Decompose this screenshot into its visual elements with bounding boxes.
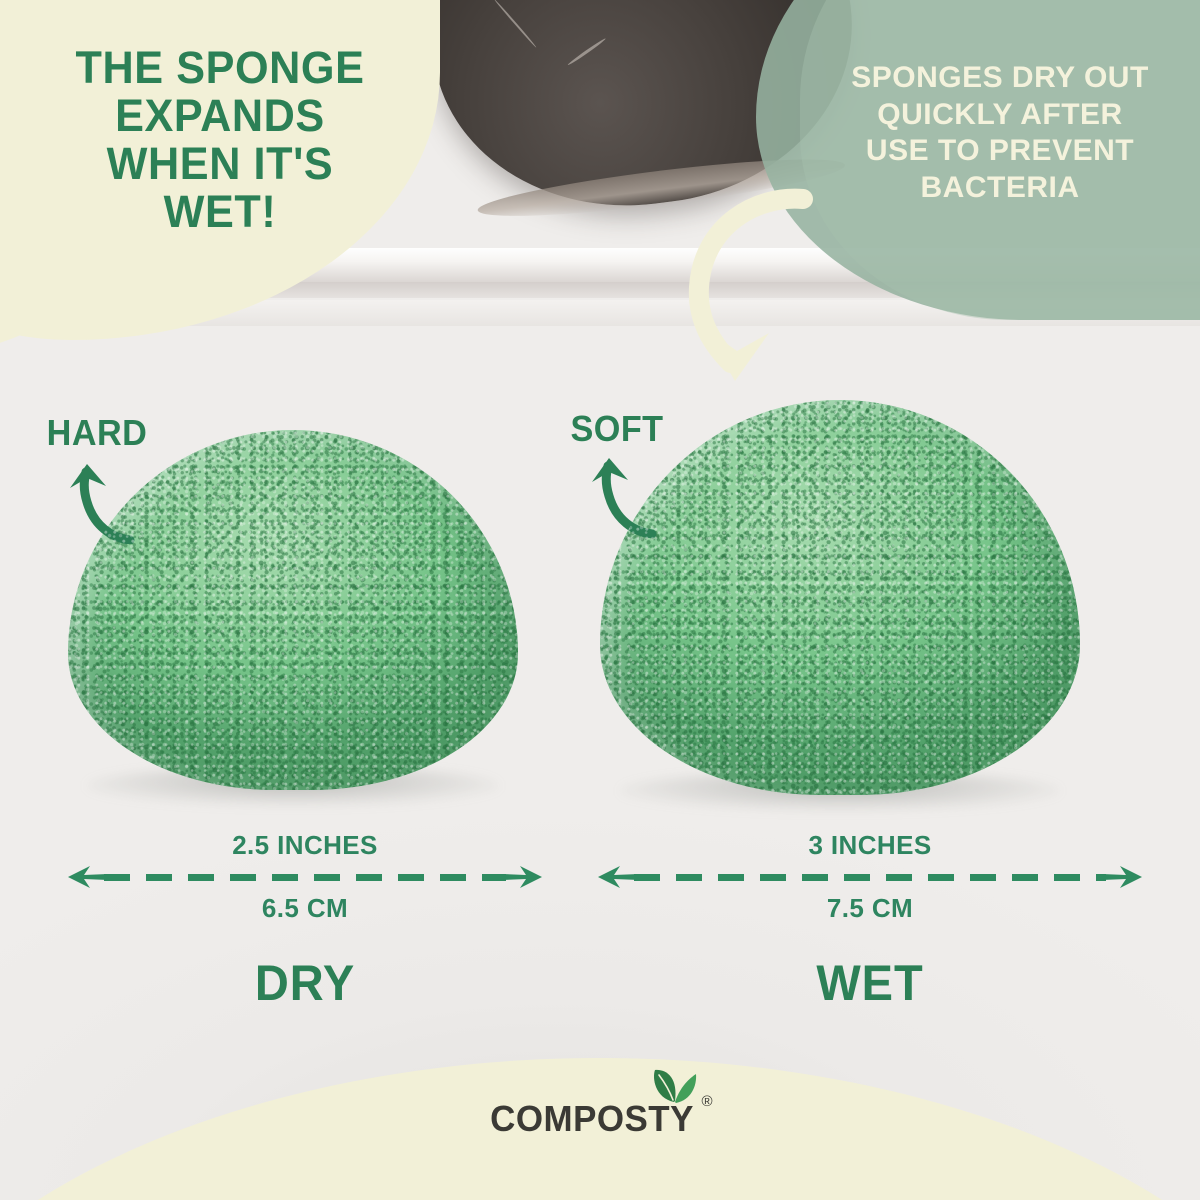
brand-logo: Composty ®	[0, 1088, 1200, 1140]
dry-dimension-line	[70, 865, 540, 889]
wet-cm-label: 7.5 cm	[600, 893, 1140, 924]
soft-label: Soft	[570, 408, 663, 450]
dry-measurement-group: 2.5 Inches 6.5 cm Dry	[70, 830, 540, 1012]
panel-message: Sponges dry out quickly after use to pre…	[828, 60, 1172, 206]
hard-label: Hard	[47, 412, 148, 454]
two-leaves-icon	[651, 1066, 697, 1106]
panel-line-2: quickly after	[828, 97, 1172, 134]
panel-line-1: Sponges dry out	[828, 60, 1172, 97]
headline-line-2: Expands	[47, 92, 393, 140]
wet-sponge-body	[600, 400, 1080, 795]
infographic-poster: The Sponge Expands When It's Wet! Sponge…	[0, 0, 1200, 1200]
wet-dashed-line	[634, 874, 1106, 881]
wet-inches-label: 3 Inches	[600, 830, 1140, 861]
dry-dashed-line	[104, 874, 506, 881]
panel-line-4: bacteria	[828, 170, 1172, 207]
arrow-right-icon	[1102, 865, 1142, 889]
dry-caption: Dry	[84, 954, 526, 1012]
arrow-left-icon	[68, 865, 108, 889]
headline: The Sponge Expands When It's Wet!	[47, 44, 393, 237]
arrow-right-icon	[502, 865, 542, 889]
registered-mark: ®	[701, 1094, 712, 1109]
wet-caption: Wet	[616, 954, 1124, 1012]
curved-arrow-down-icon	[665, 185, 815, 385]
wet-sponge	[600, 400, 1080, 795]
arrow-left-icon	[598, 865, 638, 889]
dry-inches-label: 2.5 Inches	[70, 830, 540, 861]
wet-dimension-line	[600, 865, 1140, 889]
wet-measurement-group: 3 Inches 7.5 cm Wet	[600, 830, 1140, 1012]
headline-line-3: When It's	[47, 140, 393, 188]
panel-line-3: use to prevent	[828, 133, 1172, 170]
headline-line-1: The Sponge	[47, 44, 393, 92]
headline-line-4: Wet!	[47, 188, 393, 236]
dry-cm-label: 6.5 cm	[70, 893, 540, 924]
